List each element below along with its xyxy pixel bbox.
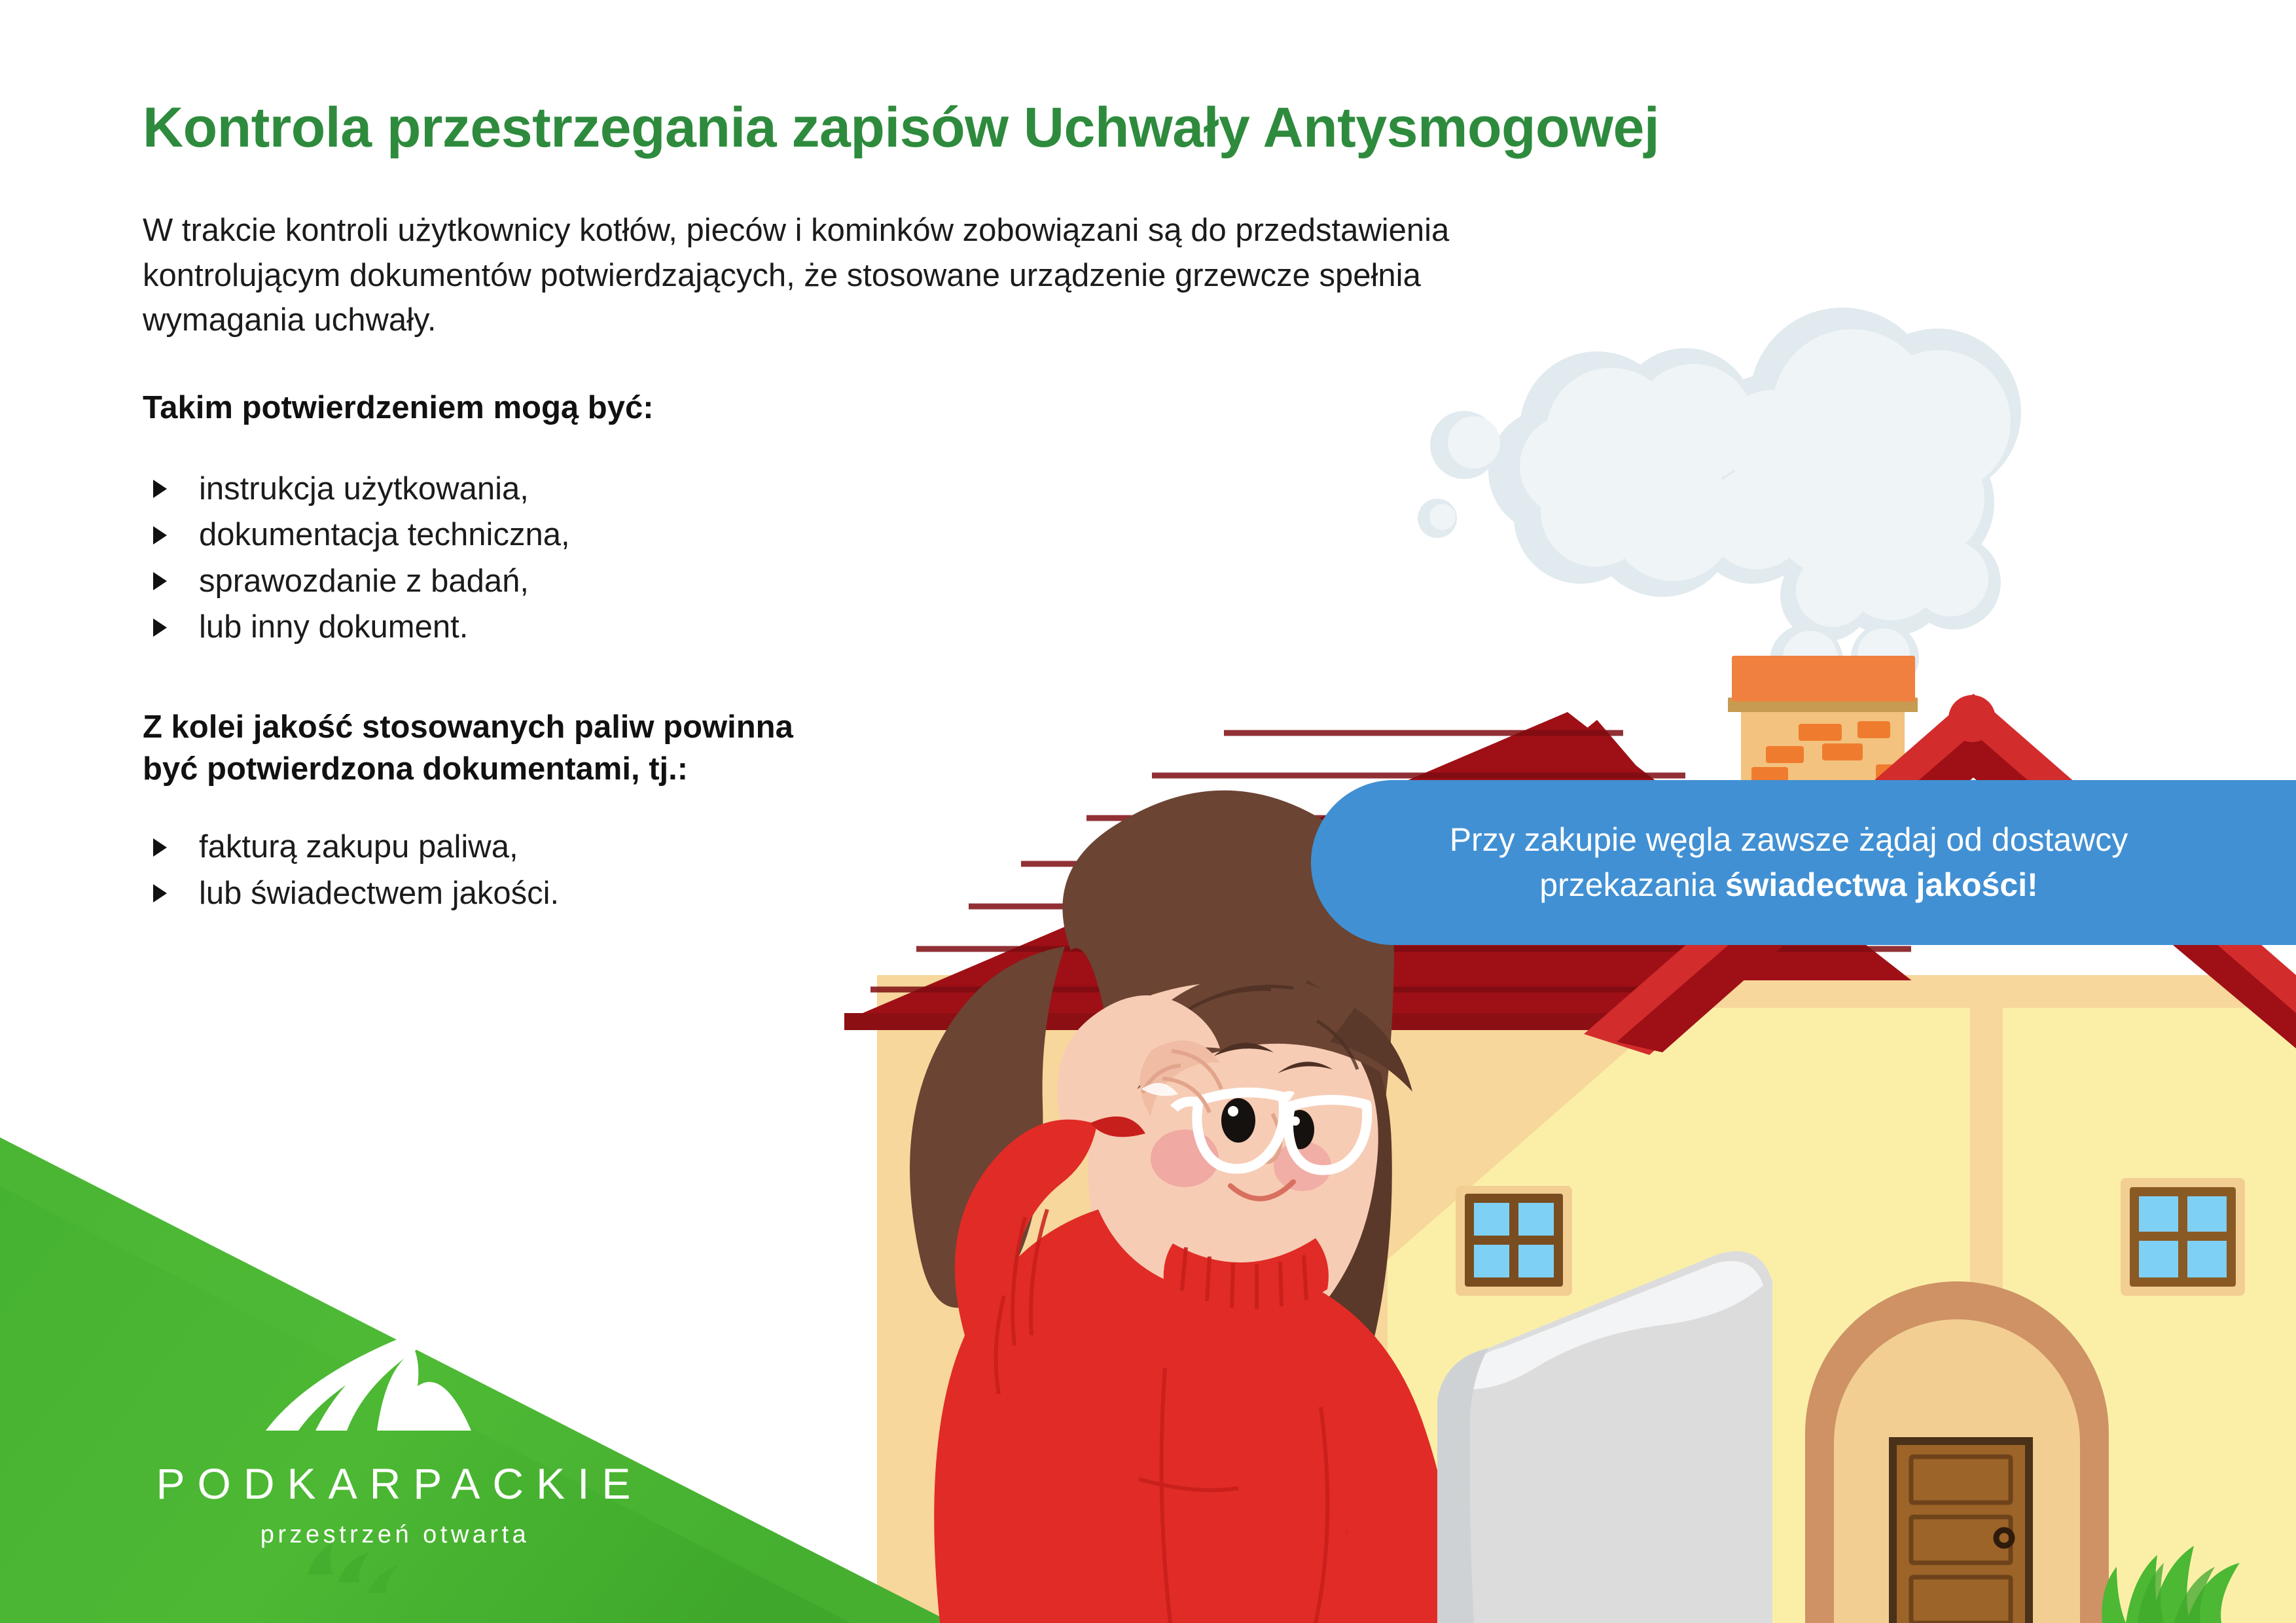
list-item-label: lub inny dokument. (199, 609, 468, 645)
triangle-right-icon (153, 480, 167, 498)
callout-text-bold: świadectwa jakości! (1725, 866, 2038, 903)
list-item-label: sprawozdanie z badań, (199, 563, 529, 599)
list-item: sprawozdanie z badań, (143, 558, 1733, 605)
callout-text: Przy zakupie węgla zawsze żądaj od dosta… (1390, 817, 2188, 908)
window-icon (2121, 1178, 2245, 1296)
bush-icon (2138, 1563, 2215, 1623)
callout-banner: Przy zakupie węgla zawsze żądaj od dosta… (1311, 780, 2296, 945)
list-item: lub inny dokument. (143, 604, 1733, 651)
podkarpackie-logo: PODKARPACKIE przestrzeń otwarta (128, 1302, 658, 1547)
logo-tagline: przestrzeń otwarta (132, 1522, 658, 1547)
hand-icon (1555, 1451, 1709, 1623)
list-item: instrukcja użytkowania, (143, 466, 1733, 512)
list-item-label: instrukcja użytkowania, (199, 471, 529, 507)
glasses-icon (1174, 1092, 1367, 1170)
poster-root: Kontrola przestrzegania zapisów Uchwały … (0, 0, 2296, 1623)
page-title: Kontrola przestrzegania zapisów Uchwały … (143, 98, 1733, 157)
intro-line-1: W trakcie kontroli użytkownicy kotłów, p… (143, 208, 1641, 253)
bush-icon (2102, 1546, 2240, 1623)
heading-fuel: Z kolei jakość stosowanych paliw powinna… (143, 707, 1733, 790)
document-sheet-icon (1437, 1251, 1772, 1623)
podkarpackie-mountain-road-icon (253, 1302, 534, 1453)
triangle-right-icon (153, 838, 167, 857)
documents-list: instrukcja użytkowania, dokumentacja tec… (143, 466, 1733, 651)
door-icon (1805, 1281, 2109, 1623)
window-icon (1456, 1186, 1572, 1296)
list-item: dokumentacja techniczna, (143, 512, 1733, 558)
list-item-label: fakturą zakupu paliwa, (199, 829, 518, 865)
list-item-label: lub świadectwem jakości. (199, 876, 559, 911)
intro-line-3: wymagania uchwały. (143, 298, 1641, 343)
intro-line-2: kontrolującym dokumentów potwierdzającyc… (143, 253, 1641, 298)
intro-paragraph: W trakcie kontroli użytkownicy kotłów, p… (143, 208, 1641, 343)
logo-name: PODKARPACKIE (141, 1462, 658, 1505)
list-item-label: dokumentacja techniczna, (199, 517, 570, 552)
triangle-right-icon (153, 618, 167, 637)
triangle-right-icon (153, 526, 167, 544)
triangle-right-icon (153, 572, 167, 590)
triangle-right-icon (153, 884, 167, 902)
heading-documents: Takim potwierdzeniem mogą być: (143, 387, 1733, 429)
heading-fuel-line-1: Z kolei jakość stosowanych paliw powinna (143, 707, 1733, 749)
